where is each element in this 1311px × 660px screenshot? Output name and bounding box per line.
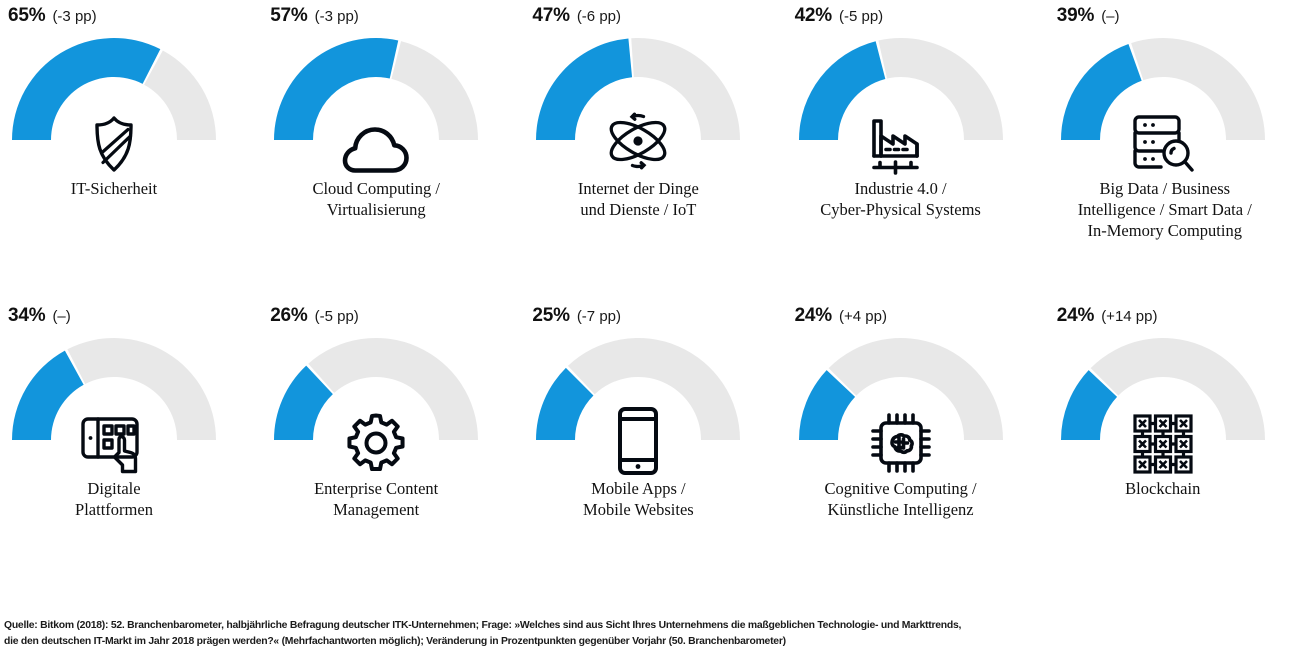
gauge-track-arc xyxy=(1090,338,1264,440)
gauge-percent-value: 39% xyxy=(1057,5,1094,27)
gauge-delta-value: (-3 pp) xyxy=(315,8,359,25)
gauge-card: 26%(-5 pp)Enterprise ContentManagement xyxy=(262,300,524,600)
gauge-stat-line: 65%(-3 pp) xyxy=(8,5,97,27)
gauge-category-label-line: Blockchain xyxy=(1049,478,1277,499)
gauge-grid: 65%(-3 pp)IT-Sicherheit57%(-3 pp)Cloud C… xyxy=(0,0,1311,600)
gauge-percent-value: 57% xyxy=(270,5,307,27)
gauge-category-label-line: Cloud Computing / xyxy=(262,178,490,199)
gauge-category-label-line: IT-Sicherheit xyxy=(0,178,228,199)
gauge-percent-value: 25% xyxy=(532,305,569,327)
gauge-delta-value: (-3 pp) xyxy=(52,8,96,25)
gauge-category-label-line: Mobile Websites xyxy=(524,499,752,520)
source-footnote: Quelle: Bitkom (2018): 52. Branchenbarom… xyxy=(4,618,1304,650)
gauge-card: 34%(–)DigitalePlattformen xyxy=(0,300,262,600)
gauge-percent-value: 24% xyxy=(1057,305,1094,327)
gauge-category-label-line: Intelligence / Smart Data / xyxy=(1049,199,1281,220)
footnote-line-1: Quelle: Bitkom (2018): 52. Branchenbarom… xyxy=(4,618,1304,634)
gauge-percent-value: 26% xyxy=(270,305,307,327)
semicircle-gauge xyxy=(8,328,220,474)
gauge-category-label: Big Data / BusinessIntelligence / Smart … xyxy=(1049,178,1281,241)
semicircle-gauge xyxy=(8,28,220,174)
gauge-delta-value: (–) xyxy=(1101,8,1119,25)
gauge-delta-value: (-5 pp) xyxy=(839,8,883,25)
gauge-delta-value: (–) xyxy=(52,308,70,325)
gauge-category-label-line: In-Memory Computing xyxy=(1049,220,1281,241)
gauge-card: 39%(–)Big Data / BusinessIntelligence / … xyxy=(1049,0,1311,300)
semicircle-gauge xyxy=(795,28,1007,174)
gauge-stat-line: 34%(–) xyxy=(8,305,71,327)
gauge-percent-value: 65% xyxy=(8,5,45,27)
gauge-category-label-line: Plattformen xyxy=(0,499,228,520)
gauge-delta-value: (-6 pp) xyxy=(577,8,621,25)
gauge-track-arc xyxy=(67,338,216,440)
gauge-category-label: Enterprise ContentManagement xyxy=(262,478,490,520)
semicircle-gauge xyxy=(1057,28,1269,174)
gauge-category-label-line: Mobile Apps / xyxy=(524,478,752,499)
gauge-stat-line: 47%(-6 pp) xyxy=(532,5,621,27)
gauge-track-arc xyxy=(568,338,740,440)
gauge-category-label: Industrie 4.0 /Cyber-Physical Systems xyxy=(787,178,1015,220)
gauge-card: 24%(+4 pp)Cognitive Computing /Künstlich… xyxy=(787,300,1049,600)
gauge-category-label-line: Big Data / Business xyxy=(1049,178,1281,199)
gauge-stat-line: 39%(–) xyxy=(1057,5,1120,27)
gauge-category-label-line: Cyber-Physical Systems xyxy=(787,199,1015,220)
gauge-stat-line: 25%(-7 pp) xyxy=(532,305,621,327)
gauge-stat-line: 24%(+14 pp) xyxy=(1057,305,1158,327)
gauge-category-label-line: und Dienste / IoT xyxy=(524,199,752,220)
gauge-delta-value: (-5 pp) xyxy=(315,308,359,325)
gauge-category-label-line: Enterprise Content xyxy=(262,478,490,499)
gauge-stat-line: 26%(-5 pp) xyxy=(270,305,359,327)
gauge-track-arc xyxy=(144,50,216,140)
gauge-card: 47%(-6 pp)Internet der Dingeund Dienste … xyxy=(524,0,786,300)
gauge-track-arc xyxy=(392,41,479,140)
gauge-track-arc xyxy=(878,38,1003,140)
semicircle-gauge xyxy=(270,328,482,474)
gauge-category-label-line: Digitale xyxy=(0,478,228,499)
gauge-delta-value: (-7 pp) xyxy=(577,308,621,325)
semicircle-gauge xyxy=(795,328,1007,474)
gauge-category-label-line: Virtualisierung xyxy=(262,199,490,220)
gauge-card: 65%(-3 pp)IT-Sicherheit xyxy=(0,0,262,300)
gauge-category-label: DigitalePlattformen xyxy=(0,478,228,520)
gauge-category-label-line: Management xyxy=(262,499,490,520)
gauge-percent-value: 47% xyxy=(532,5,569,27)
gauge-stat-line: 42%(-5 pp) xyxy=(795,5,884,27)
gauge-track-arc xyxy=(828,338,1002,440)
gauge-track-arc xyxy=(632,38,741,140)
gauge-category-label: Blockchain xyxy=(1049,478,1277,499)
semicircle-gauge xyxy=(1057,328,1269,474)
gauge-category-label: Internet der Dingeund Dienste / IoT xyxy=(524,178,752,220)
gauge-track-arc xyxy=(308,338,478,440)
gauge-percent-value: 42% xyxy=(795,5,832,27)
gauge-track-arc xyxy=(1131,38,1265,140)
gauge-category-label-line: Künstliche Intelligenz xyxy=(787,499,1015,520)
gauge-value-arc xyxy=(536,38,632,140)
gauge-value-arc xyxy=(12,38,160,140)
gauge-category-label-line: Industrie 4.0 / xyxy=(787,178,1015,199)
footnote-line-2: die den deutschen IT-Markt im Jahr 2018 … xyxy=(4,634,1304,650)
gauge-percent-value: 24% xyxy=(795,305,832,327)
gauge-delta-value: (+14 pp) xyxy=(1101,308,1157,325)
gauge-card: 57%(-3 pp)Cloud Computing /Virtualisieru… xyxy=(262,0,524,300)
gauge-value-arc xyxy=(12,351,84,440)
semicircle-gauge xyxy=(532,28,744,174)
gauge-category-label: IT-Sicherheit xyxy=(0,178,228,199)
gauge-card: 42%(-5 pp)Industrie 4.0 /Cyber-Physical … xyxy=(787,0,1049,300)
gauge-delta-value: (+4 pp) xyxy=(839,308,887,325)
gauge-category-label: Mobile Apps /Mobile Websites xyxy=(524,478,752,520)
gauge-card: 24%(+14 pp)Blockchain xyxy=(1049,300,1311,600)
gauge-category-label-line: Internet der Dinge xyxy=(524,178,752,199)
gauge-stat-line: 57%(-3 pp) xyxy=(270,5,359,27)
gauge-stat-line: 24%(+4 pp) xyxy=(795,305,887,327)
gauge-card: 25%(-7 pp)Mobile Apps /Mobile Websites xyxy=(524,300,786,600)
gauge-value-arc xyxy=(799,41,885,140)
gauge-value-arc xyxy=(1061,44,1142,140)
gauge-value-arc xyxy=(274,38,398,140)
gauge-percent-value: 34% xyxy=(8,305,45,327)
semicircle-gauge xyxy=(270,28,482,174)
gauge-category-label: Cloud Computing /Virtualisierung xyxy=(262,178,490,220)
gauge-category-label: Cognitive Computing /Künstliche Intellig… xyxy=(787,478,1015,520)
semicircle-gauge xyxy=(532,328,744,474)
gauge-category-label-line: Cognitive Computing / xyxy=(787,478,1015,499)
